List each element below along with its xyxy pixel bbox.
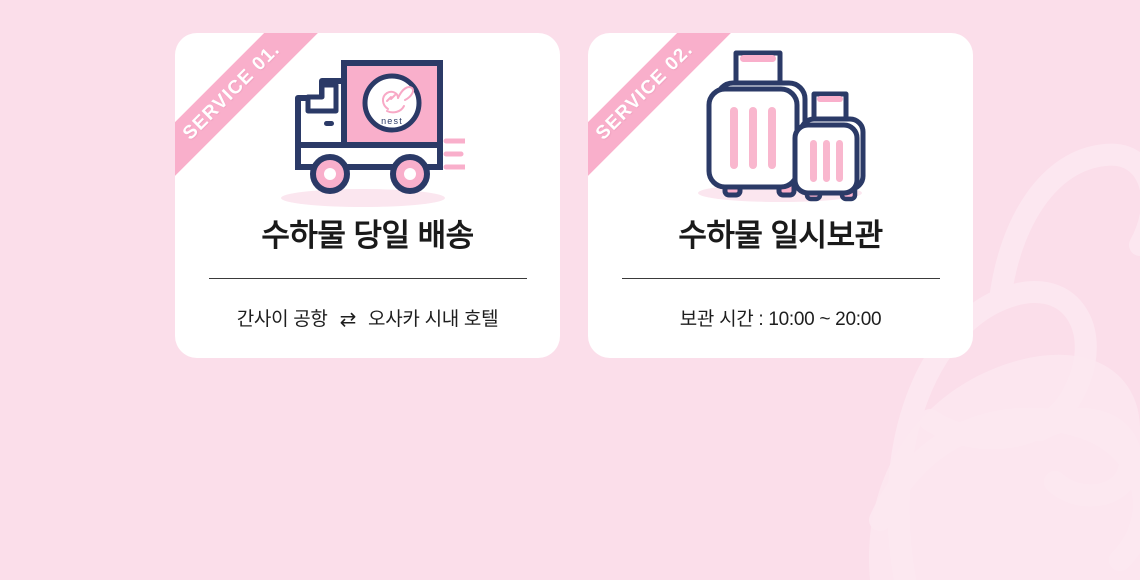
card-subtitle: 간사이 공항 ⇄ 오사카 시내 호텔: [237, 304, 499, 332]
card-title: 수하물 당일 배송: [261, 220, 473, 251]
card-divider: [622, 278, 940, 279]
speed-lines-icon: [446, 141, 465, 167]
subtitle-hours: 보관 시간 : 10:00 ~ 20:00: [680, 309, 881, 330]
subtitle-destination: 오사카 시내 호텔: [368, 309, 498, 330]
exchange-arrows-icon: ⇄: [333, 307, 363, 332]
card-subtitle: 보관 시간 : 10:00 ~ 20:00: [680, 304, 881, 331]
subtitle-origin: 간사이 공항: [237, 309, 328, 330]
card-divider: [209, 278, 527, 279]
service-cards-row: SERVICE 01. nest: [175, 33, 973, 358]
truck-logo-text: nest: [381, 116, 403, 126]
delivery-truck-illustration: nest: [175, 33, 560, 218]
service-card-delivery[interactable]: SERVICE 01. nest: [175, 33, 560, 358]
luggage-storage-illustration: [588, 33, 973, 218]
card-title: 수하물 일시보관: [678, 220, 882, 251]
service-card-storage[interactable]: SERVICE 02.: [588, 33, 973, 358]
